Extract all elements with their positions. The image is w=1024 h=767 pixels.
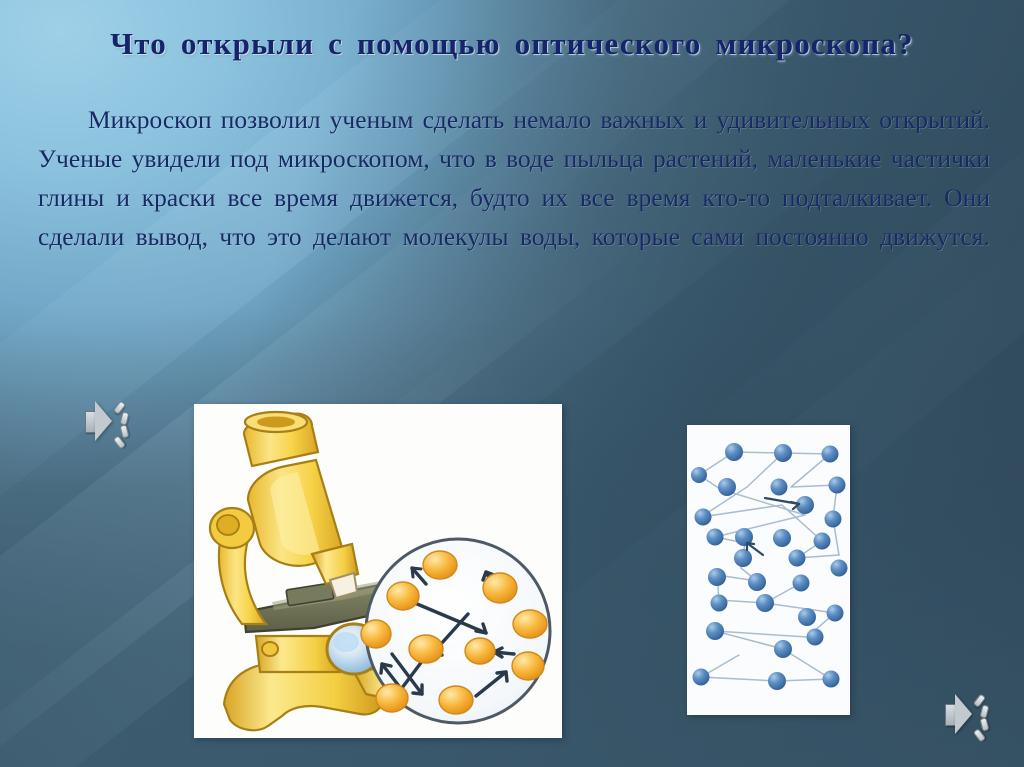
focus-knob xyxy=(262,642,278,656)
speaker-cone xyxy=(95,401,112,441)
lens-highlight xyxy=(333,632,359,652)
speaker-icon[interactable] xyxy=(83,399,139,451)
slide-body-text: Микроскоп позволил ученым сделать немало… xyxy=(38,100,990,295)
sound-wave-dash xyxy=(980,704,989,718)
sound-wave-dash xyxy=(120,411,129,425)
speaker-icon[interactable] xyxy=(943,692,999,744)
microscope-image[interactable] xyxy=(194,404,562,738)
presentation-slide: Что открыли с помощью оптического микрос… xyxy=(0,0,1024,767)
molecules-illustration xyxy=(687,425,850,715)
sound-wave-dash xyxy=(120,424,129,438)
speaker-cone xyxy=(955,694,972,734)
knob-inner xyxy=(217,515,239,535)
microscope-illustration xyxy=(194,404,562,738)
slide-title: Что открыли с помощью оптического микрос… xyxy=(0,26,1024,62)
eyepiece-aperture xyxy=(257,417,295,428)
sound-wave-dash xyxy=(980,717,989,731)
molecules-image[interactable] xyxy=(687,425,850,715)
